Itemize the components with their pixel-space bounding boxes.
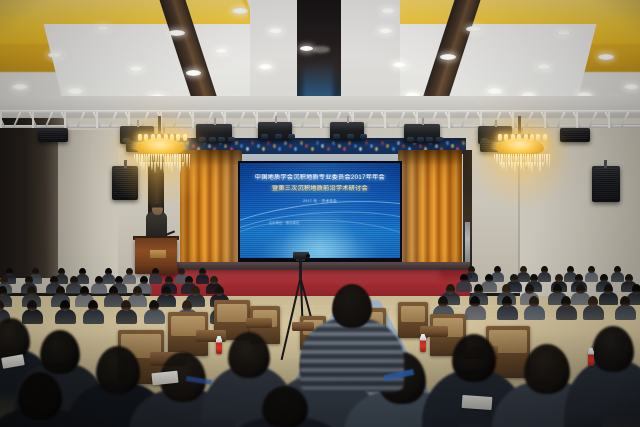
stage-light-bar <box>404 124 440 143</box>
audience-torso <box>196 274 210 284</box>
audience-head <box>56 286 65 296</box>
ceiling-downlight <box>168 30 185 36</box>
banner-decoration <box>267 141 270 145</box>
chair-armrest <box>246 318 272 328</box>
audience-head <box>530 274 538 282</box>
stage-curtain-right <box>398 150 462 280</box>
audience-head <box>468 266 475 273</box>
ceiling-downlight <box>268 28 283 34</box>
banner-decoration <box>402 144 405 148</box>
audience-head <box>567 266 574 273</box>
audience-head <box>80 286 89 296</box>
banner-decoration <box>278 147 281 151</box>
audience-torso <box>102 274 116 284</box>
audience-torso <box>556 305 577 320</box>
podium-plaque <box>150 250 166 258</box>
ceiling-downlight <box>12 84 28 90</box>
audience-head <box>474 284 483 294</box>
ceiling-downlight <box>392 62 407 68</box>
audience-torso <box>517 272 531 282</box>
audience-head <box>58 268 65 275</box>
banner-decoration <box>300 141 303 145</box>
ceiling-downlight <box>598 54 614 60</box>
audience-head-front <box>524 344 570 394</box>
audience-head-front <box>452 334 496 382</box>
audience-head <box>79 268 86 275</box>
bottle-cap <box>217 336 221 339</box>
audience-head <box>575 274 583 282</box>
bottle-cap <box>421 334 425 337</box>
audio-speaker <box>592 166 620 202</box>
audience-head <box>140 276 148 284</box>
audience-torso <box>615 305 636 320</box>
banner-decoration <box>327 147 330 151</box>
audience-head <box>502 284 511 294</box>
audience-chair-seat <box>217 304 247 322</box>
audience-head-front <box>332 284 372 328</box>
audience-head <box>555 274 563 282</box>
chandelier-bulb <box>543 134 547 141</box>
chandelier-bulb <box>524 134 528 141</box>
audience-torso <box>22 309 43 324</box>
chandelier-bulb <box>498 134 502 141</box>
audience-head <box>446 284 455 294</box>
audience-head <box>0 286 7 296</box>
ceiling-downlight <box>186 70 201 76</box>
audience-head <box>178 268 185 275</box>
screen-subtitle: 2017 年 · 学术年会 <box>240 199 400 204</box>
banner-decoration <box>294 147 297 151</box>
audience-torso <box>91 283 106 294</box>
audience-head-front <box>40 330 80 374</box>
banner-decoration <box>289 144 292 148</box>
banner-decoration <box>370 144 373 148</box>
banner-decoration <box>224 144 227 148</box>
ceiling-downlight <box>486 88 504 95</box>
banner-decoration <box>386 144 389 148</box>
audience-head <box>600 274 608 282</box>
audience-head <box>215 286 224 296</box>
banner-decoration <box>348 141 351 145</box>
banner-decoration <box>419 144 422 148</box>
audience-torso <box>123 274 137 284</box>
audience-torso <box>611 272 625 282</box>
audience-head <box>6 268 13 275</box>
water-bottle <box>420 336 426 352</box>
chandelier-bulb <box>530 134 534 141</box>
audience-head <box>588 266 595 273</box>
ceiling-downlight <box>556 30 572 36</box>
audience-striped-shirt <box>300 318 404 392</box>
banner-decoration <box>381 141 384 145</box>
chandelier-crystals-lower <box>140 162 184 173</box>
audience-torso <box>481 281 496 292</box>
audience-head <box>109 286 118 296</box>
ceiling-downlight <box>440 54 456 60</box>
audience-head <box>50 276 58 284</box>
audience-torso <box>585 272 599 282</box>
banner-decoration <box>451 144 454 148</box>
banner-decoration <box>375 147 378 151</box>
ceiling-downlight <box>300 46 313 51</box>
audience-head <box>133 286 142 296</box>
screen-footer-note: 主办单位 · 承办单位 <box>269 220 300 225</box>
stage-light-bar <box>258 122 292 140</box>
audience-torso <box>149 274 163 284</box>
banner-decoration <box>246 147 249 151</box>
stage-skirt-highlight <box>180 272 440 284</box>
stage-door-glass <box>465 222 470 264</box>
ceiling-downlight <box>214 48 229 54</box>
audience-head <box>165 276 173 284</box>
banner-decoration <box>311 147 314 151</box>
speaker-bracket <box>604 160 607 168</box>
audience-head <box>576 284 585 294</box>
audience-head <box>95 276 103 284</box>
audience-head <box>520 266 527 273</box>
camera-lens <box>306 254 310 258</box>
audio-speaker <box>38 128 68 142</box>
banner-decoration <box>251 141 254 145</box>
audience-head <box>32 268 39 275</box>
banner-decoration <box>332 141 335 145</box>
led-screen: 中国地质学会沉积地质专业委员会2017年年会 暨第三次沉积地质前沿学术研讨会 2… <box>240 163 400 258</box>
banner-decoration <box>257 144 260 148</box>
audience-head <box>199 268 206 275</box>
audience-head-front <box>18 372 62 420</box>
chandelier-crystals-lower <box>500 162 544 173</box>
audience-torso <box>583 305 604 320</box>
ceiling-downlight <box>624 84 639 90</box>
chandelier-bulb <box>517 134 521 141</box>
audience-head <box>27 286 36 296</box>
audience-torso <box>116 309 137 324</box>
bottle-cap <box>589 348 593 351</box>
audience-torso <box>55 309 76 324</box>
chandelier-bulb <box>157 134 161 141</box>
audience-torso <box>144 309 165 324</box>
banner-decoration <box>316 141 319 145</box>
banner-decoration <box>397 141 400 145</box>
banner-decoration <box>354 144 357 148</box>
audience-torso <box>83 309 104 324</box>
audience-head-front <box>228 332 270 378</box>
ceiling-downlight <box>96 26 110 31</box>
chandelier-bulb <box>170 134 174 141</box>
banner-decoration <box>240 144 243 148</box>
banner-decoration <box>284 141 287 145</box>
audience-head-front <box>262 386 308 427</box>
audience-torso <box>538 272 552 282</box>
audience-head <box>25 276 33 284</box>
audience-head <box>604 284 613 294</box>
water-bottle <box>216 338 222 354</box>
banner-decoration <box>446 141 449 145</box>
audience-head <box>0 276 8 284</box>
conference-hall-photo: 中国地质学会沉积地质专业委员会2017年年会 暨第三次沉积地质前沿学术研讨会 2… <box>0 0 640 427</box>
audience-torso <box>497 305 518 320</box>
audience-head <box>485 274 493 282</box>
ceiling-downlight <box>258 64 273 70</box>
ceiling-downlight <box>66 88 84 95</box>
banner-decoration <box>273 144 276 148</box>
ceiling-downlight <box>378 28 393 34</box>
presenter-head <box>152 204 163 215</box>
audience-head <box>541 266 548 273</box>
audience-head <box>460 274 468 282</box>
audience-head <box>625 274 633 282</box>
ceiling-downlight <box>380 8 396 14</box>
audience-head <box>553 284 562 294</box>
audience-torso <box>465 305 486 320</box>
banner-decoration <box>365 141 368 145</box>
banner-decoration <box>321 144 324 148</box>
screen-title-line1: 中国地质学会沉积地质专业委员会2017年年会 <box>240 174 400 182</box>
audience-head <box>614 266 621 273</box>
audience-head <box>115 276 123 284</box>
audience-head <box>152 268 159 275</box>
audience-head-front <box>96 346 140 394</box>
chandelier-bulb <box>164 134 168 141</box>
ceiling-downlight <box>48 52 63 58</box>
stage-light-bar <box>330 122 364 140</box>
audience-head <box>162 286 171 296</box>
audience-head-front <box>592 326 634 372</box>
ceiling-downlight <box>128 66 144 72</box>
audience-head <box>70 276 78 284</box>
banner-decoration <box>338 144 341 148</box>
banner-decoration <box>462 141 465 145</box>
audience-head <box>632 284 640 294</box>
ceiling-vent-center <box>312 46 330 53</box>
banner-decoration <box>343 147 346 151</box>
audience-head <box>494 266 501 273</box>
ceiling-downlight <box>536 64 552 70</box>
audience-head <box>126 268 133 275</box>
audience-torso <box>524 305 545 320</box>
audience-head <box>510 274 518 282</box>
ceiling-downlight <box>466 26 483 32</box>
chandelier-bulb <box>511 134 515 141</box>
banner-decoration <box>262 147 265 151</box>
chandelier-bulb <box>138 134 142 141</box>
left-wall-dark-panel <box>0 118 64 278</box>
audience-head <box>185 276 193 284</box>
banner-decoration <box>305 144 308 148</box>
banner-decoration <box>359 147 362 151</box>
screen-title-line2: 暨第三次沉积地质前沿学术研讨会 <box>240 185 400 193</box>
chair-armrest <box>292 322 314 331</box>
audience-chair-seat <box>401 306 425 322</box>
audience-head <box>210 276 218 284</box>
audience-torso <box>456 281 471 292</box>
chandelier-bulb <box>151 134 155 141</box>
banner-decoration <box>392 147 395 151</box>
chandelier-bulb <box>183 134 187 141</box>
audience-head <box>525 284 534 294</box>
banner-decoration <box>435 144 438 148</box>
water-bottle <box>588 350 594 366</box>
ceiling-downlight <box>232 8 248 14</box>
handout-paper <box>462 395 493 410</box>
audience-head <box>191 286 200 296</box>
audience-head <box>105 268 112 275</box>
banner-decoration <box>235 141 238 145</box>
